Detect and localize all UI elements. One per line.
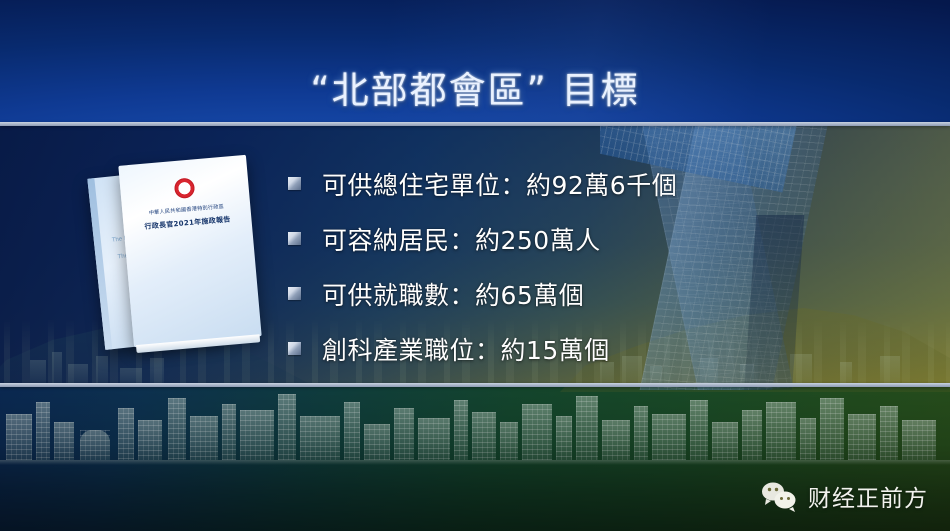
list-item-label: 可供就職數：約65萬個 — [322, 276, 584, 312]
watermark-label: 财经正前方 — [808, 479, 928, 513]
wechat-icon — [760, 480, 798, 512]
bullet-list: 可供總住宅單位：約92萬6千個 可容納居民：約250萬人 可供就職數：約65萬個… — [288, 156, 908, 376]
list-item-label: 可容納居民：約250萬人 — [322, 221, 601, 257]
booklet-page-edges — [136, 334, 260, 353]
divider-top — [0, 122, 950, 126]
bauhinia-flower-glyph: ✽ — [179, 182, 190, 195]
booklet-front-cover: ✽ 中華人民共和國香港特別行政區 行政長官2021年施政報告 — [118, 155, 261, 347]
bullet-square-icon — [288, 287, 301, 300]
bullet-square-icon — [288, 342, 301, 355]
page-title: “北部都會區” 目標 — [0, 60, 950, 114]
list-item: 可供就職數：約65萬個 — [288, 266, 908, 321]
bullet-square-icon — [288, 232, 301, 245]
list-item: 可供總住宅單位：約92萬6千個 — [288, 156, 908, 211]
list-item: 創科產業職位：約15萬個 — [288, 321, 908, 376]
list-item-label: 創科產業職位：約15萬個 — [322, 331, 610, 367]
presentation-slide: “北部都會區” 目標 The Hong Kong Special The Chi… — [0, 0, 950, 531]
channel-watermark: 财经正前方 — [760, 479, 928, 513]
list-item: 可容納居民：約250萬人 — [288, 211, 908, 266]
list-item-label: 可供總住宅單位：約92萬6千個 — [322, 166, 677, 202]
divider-bottom — [0, 383, 950, 387]
bullet-square-icon — [288, 177, 301, 190]
policy-address-booklet-image: The Hong Kong Special The Chief ✽ 中華人民共和… — [96, 160, 286, 375]
hksar-bauhinia-emblem-icon: ✽ — [174, 177, 196, 199]
